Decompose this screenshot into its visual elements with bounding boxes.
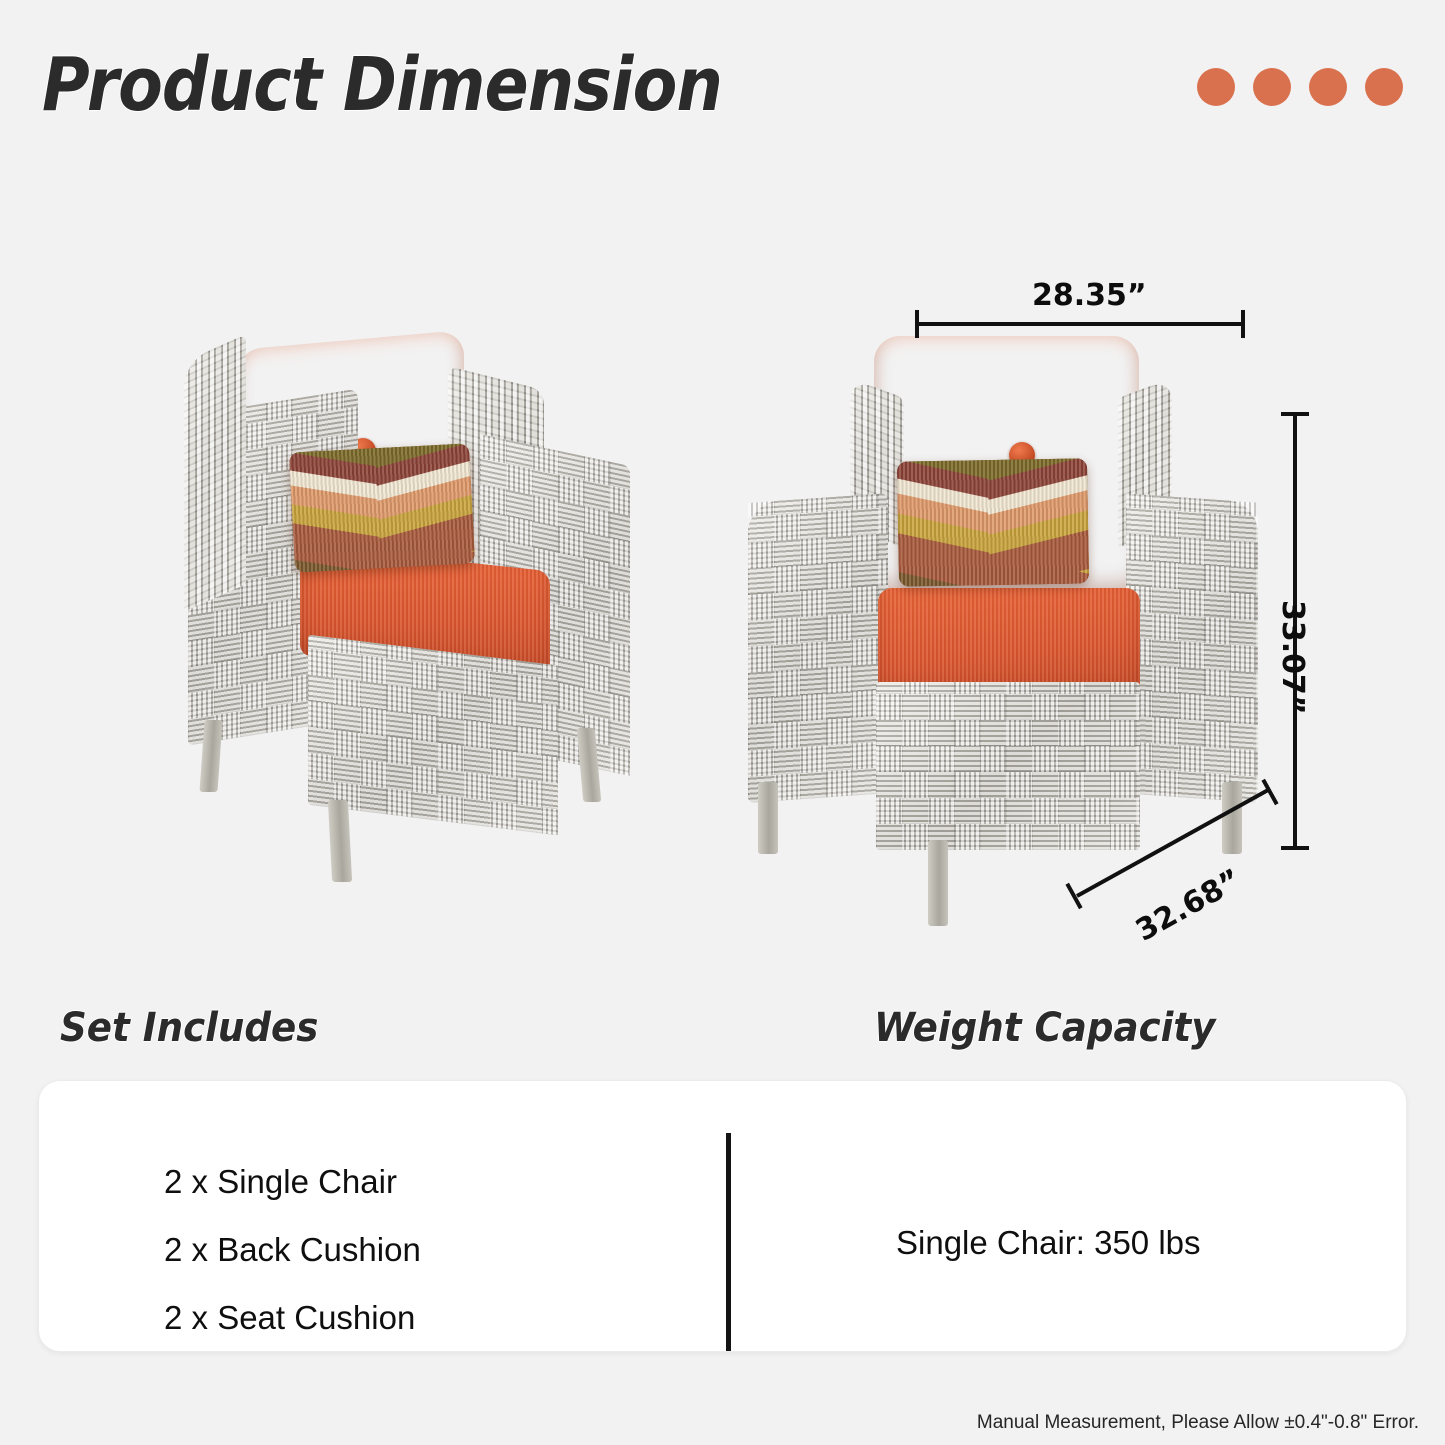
set-includes-list: 2 x Single Chair 2 x Back Cushion 2 x Se… <box>164 1163 421 1337</box>
chair-leg <box>199 720 222 792</box>
chair-leg <box>928 840 948 926</box>
width-label: 28.35” <box>1032 278 1147 313</box>
dot-icon <box>1253 68 1291 106</box>
width-cap-left <box>915 310 919 338</box>
list-item: 2 x Single Chair <box>164 1163 421 1201</box>
product-dimension-infographic: Product Dimension <box>0 0 1445 1445</box>
height-cap-top <box>1281 412 1309 416</box>
page-title: Product Dimension <box>42 42 722 128</box>
decorative-dot-row <box>1197 68 1403 106</box>
width-line <box>915 322 1245 326</box>
chair-left-angled <box>180 330 660 990</box>
dot-icon <box>1197 68 1235 106</box>
throw-pillow <box>289 443 475 572</box>
measurement-disclaimer: Manual Measurement, Please Allow ±0.4"-0… <box>977 1412 1419 1434</box>
chair-front-base <box>876 682 1140 850</box>
weight-capacity-value: Single Chair: 350 lbs <box>896 1224 1201 1262</box>
chair-leg <box>1222 782 1242 854</box>
chair-leg <box>328 800 352 882</box>
height-cap-bottom <box>1281 846 1309 850</box>
chair-left-arm <box>748 493 888 803</box>
vertical-divider <box>726 1133 731 1351</box>
chair-left-arm-top <box>184 334 246 612</box>
set-includes-heading: Set Includes <box>60 1005 318 1051</box>
dot-icon <box>1365 68 1403 106</box>
list-item: 2 x Seat Cushion <box>164 1299 421 1337</box>
product-image-area: 28.35” 33.07” 32.68” <box>0 200 1445 990</box>
throw-pillow <box>897 458 1089 586</box>
chair-right-arm <box>1126 493 1258 802</box>
height-label: 33.07” <box>1275 600 1310 715</box>
dot-icon <box>1309 68 1347 106</box>
list-item: 2 x Back Cushion <box>164 1231 421 1269</box>
width-cap-right <box>1241 310 1245 338</box>
weight-capacity-heading: Weight Capacity <box>874 1005 1215 1051</box>
chair-leg <box>758 782 778 854</box>
